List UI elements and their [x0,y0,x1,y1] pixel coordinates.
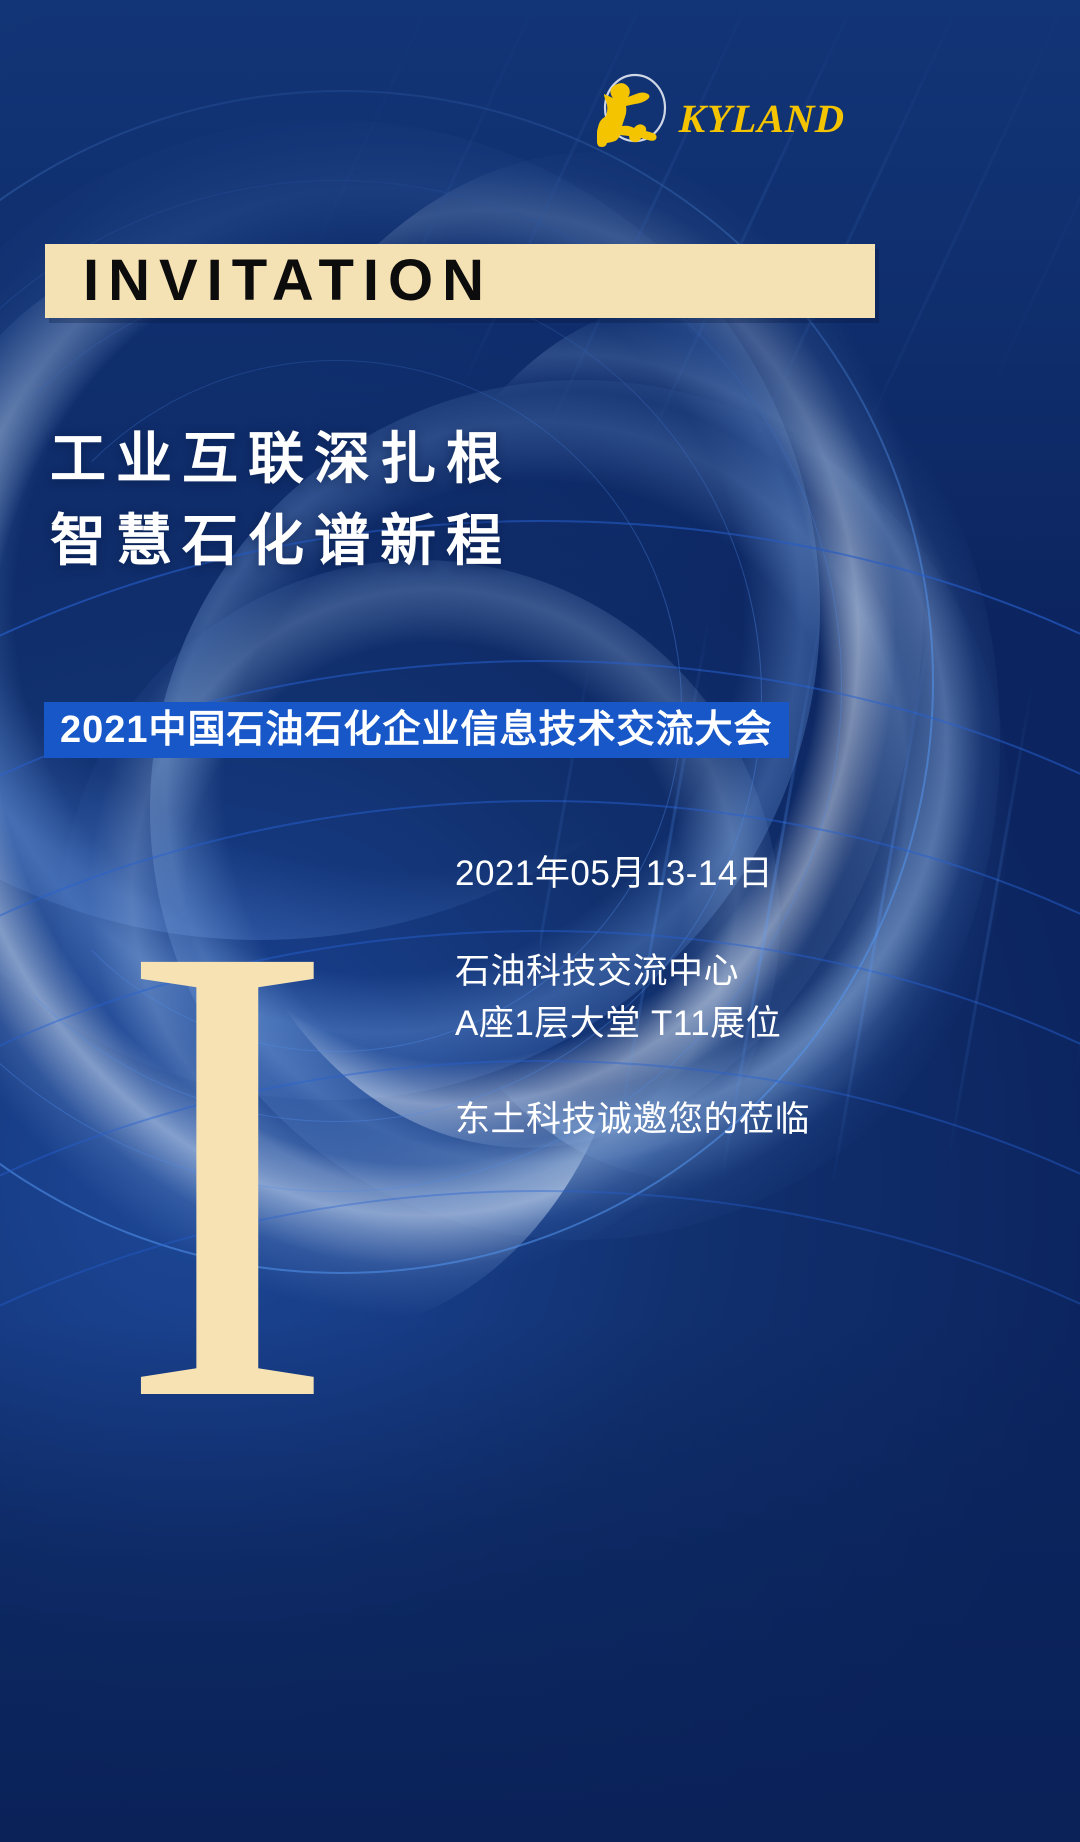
headline: 工业互联深扎根 智慧石化谱新程 [50,418,610,582]
event-details: 2021年05月13-14日 石油科技交流中心 A座1层大堂 T11展位 东土科… [455,848,1015,1146]
invitation-poster: I KYLAND INVITATION 工业互联深扎根 智慧石化谱新程 2021… [0,0,1080,1842]
event-venue: 石油科技交流中心 [455,946,1015,998]
headline-line-2: 智慧石化谱新程 [50,500,610,582]
headline-line-1: 工业互联深扎根 [50,418,610,500]
conference-name-ribbon: 2021中国石油石化企业信息技术交流大会 [44,702,789,758]
conference-name: 2021中国石油石化企业信息技术交流大会 [60,711,773,749]
monogram-letter: I [112,922,342,1422]
event-date: 2021年05月13-14日 [455,848,1015,900]
brand-logo: KYLAND [583,72,848,148]
invitation-label: INVITATION [83,252,493,310]
event-location: A座1层大堂 T11展位 [455,998,1015,1050]
kyland-globe-figure-icon [583,72,675,148]
closing-message: 东土科技诚邀您的莅临 [455,1094,1015,1146]
invitation-banner: INVITATION [45,244,875,318]
kyland-wordmark: KYLAND [678,99,845,139]
